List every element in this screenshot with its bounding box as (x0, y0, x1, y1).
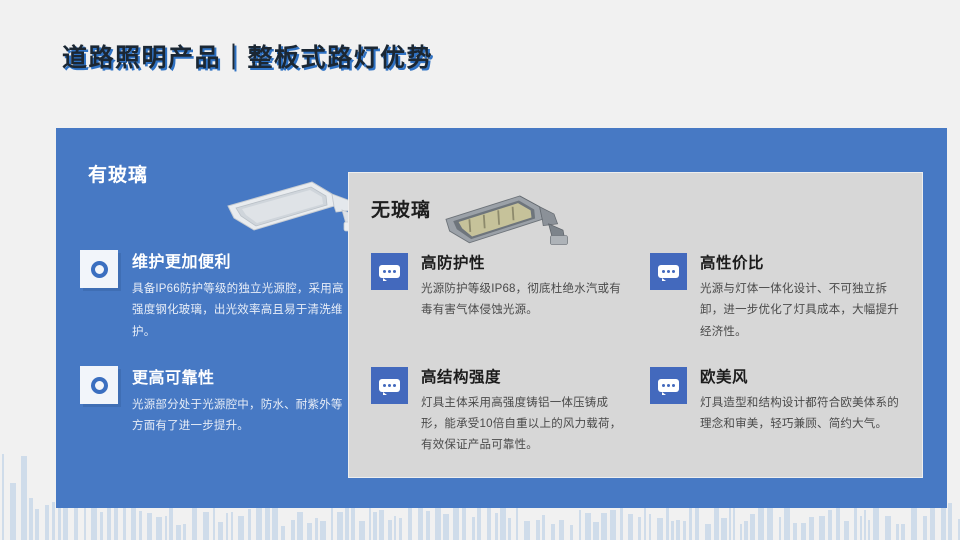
barcode-bar (585, 513, 591, 540)
barcode-bar (911, 505, 917, 540)
barcode-bar (524, 521, 530, 540)
barcode-bar (35, 509, 39, 540)
barcode-bar (542, 515, 545, 540)
barcode-bar (779, 517, 781, 540)
feature-title: 高防护性 (421, 251, 628, 273)
barcode-bar (238, 516, 244, 540)
barcode-bar (165, 516, 167, 540)
barcode-bar (408, 505, 412, 540)
barcode-bar (671, 521, 674, 540)
barcode-bar (291, 520, 295, 540)
barcode-bar (495, 513, 498, 540)
barcode-bar (345, 504, 349, 540)
barcode-bar (281, 526, 285, 540)
barcode-bar (868, 520, 870, 540)
barcode-bar (248, 509, 251, 540)
barcode-bar (29, 498, 33, 540)
barcode-bar (844, 521, 849, 540)
barcode-bar (443, 514, 449, 540)
barcode-bar (265, 506, 270, 540)
barcode-bar (231, 512, 233, 540)
barcode-bar (394, 516, 396, 540)
barcode-bar (676, 520, 680, 540)
barcode-bar (860, 516, 862, 540)
barcode-bar (331, 508, 333, 540)
barcode-bar (218, 522, 223, 540)
barcode-bar (418, 508, 423, 540)
barcode-bar (729, 505, 731, 540)
barcode-bar (147, 513, 152, 540)
feature-body: 光源部分处于光源腔中，防水、耐紫外等方面有了进一步提升。 (132, 395, 350, 438)
barcode-bar (373, 512, 377, 540)
barcode-bar (516, 504, 518, 540)
barcode-bar (337, 512, 343, 540)
barcode-bar (941, 504, 946, 540)
barcode-bar (683, 521, 686, 540)
barcode-bar (948, 503, 952, 540)
barcode-bar (226, 513, 228, 540)
barcode-bar (369, 508, 371, 540)
barcode-bar (139, 511, 142, 540)
feature-item-with-glass-0[interactable]: 维护更加便利 具备IP66防护等级的独立光源腔，采用高强度钢化玻璃，出光效率高且… (80, 248, 350, 343)
barcode-bar (793, 523, 797, 540)
barcode-bar (705, 524, 711, 540)
barcode-bar (610, 510, 616, 540)
barcode-bar (399, 518, 402, 540)
barcode-bar (183, 524, 186, 540)
feature-body: 光源与灯体一体化设计、不可独立拆卸，进一步优化了灯具成本，大幅提升经济性。 (700, 279, 907, 343)
barcode-bar (644, 507, 646, 540)
feature-title: 高性价比 (700, 251, 907, 273)
page-title: 道路照明产品｜整板式路灯优势 (62, 38, 433, 74)
barcode-bar (2, 454, 4, 540)
barcode-bar (453, 503, 459, 540)
barcode-bar (45, 505, 49, 540)
barcode-bar (10, 483, 16, 540)
barcode-bar (649, 514, 651, 540)
barcode-bar (638, 517, 641, 540)
barcode-bar (579, 510, 581, 540)
barcode-bar (307, 523, 312, 540)
barcode-bar (901, 524, 905, 540)
feature-item-no-glass-2[interactable]: 高结构强度 灯具主体采用高强度铸铝一体压铸成形，能承受10倍自重以上的风力载荷，… (371, 365, 628, 457)
feature-item-no-glass-0[interactable]: 高防护性 光源防护等级IP68，彻底杜绝水汽或有毒有害气体侵蚀光源。 (371, 251, 628, 343)
barcode-bar (508, 518, 511, 540)
barcode-bar (315, 518, 318, 540)
barcode-bar (351, 508, 355, 540)
barcode-bar (896, 524, 899, 540)
barcode-bar (930, 503, 935, 540)
barcode-bar (52, 502, 55, 540)
barcode-bar (192, 508, 197, 540)
barcode-bar (750, 514, 755, 540)
barcode-bar (472, 517, 475, 540)
barcode-bar (885, 516, 891, 540)
barcode-bar (819, 516, 825, 540)
barcode-bar (176, 525, 181, 540)
barcode-bar (551, 524, 555, 540)
barcode-bar (695, 505, 699, 540)
barcode-bar (359, 521, 365, 540)
no-glass-feature-grid: 高防护性 光源防护等级IP68，彻底杜绝水汽或有毒有害气体侵蚀光源。 高性价比 … (371, 251, 907, 457)
barcode-bar (601, 513, 607, 540)
ring-icon (80, 366, 118, 404)
barcode-bar (593, 522, 599, 540)
barcode-bar (426, 511, 430, 540)
message-bubble-icon (650, 253, 687, 290)
feature-item-no-glass-1[interactable]: 高性价比 光源与灯体一体化设计、不可独立拆卸，进一步优化了灯具成本，大幅提升经济… (650, 251, 907, 343)
feature-body: 光源防护等级IP68，彻底杜绝水汽或有毒有害气体侵蚀光源。 (421, 279, 628, 322)
feature-title: 维护更加便利 (132, 248, 350, 272)
barcode-bar (559, 520, 564, 540)
street-lamp-no-glass-icon (437, 179, 572, 257)
barcode-bar (740, 524, 742, 540)
barcode-bar (297, 512, 303, 540)
barcode-bar (100, 512, 103, 540)
no-glass-label: 无玻璃 (371, 195, 431, 222)
barcode-bar (721, 518, 727, 540)
street-lamp-with-glass-icon (216, 160, 366, 245)
barcode-bar (923, 516, 927, 540)
barcode-bar (657, 518, 663, 540)
barcode-bar (388, 520, 392, 540)
barcode-bar (435, 504, 441, 540)
feature-item-no-glass-3[interactable]: 欧美风 灯具造型和结构设计都符合欧美体系的理念和审美，轻巧兼顾、简约大气。 (650, 365, 907, 457)
feature-body: 灯具造型和结构设计都符合欧美体系的理念和审美，轻巧兼顾、简约大气。 (700, 393, 907, 436)
feature-body: 具备IP66防护等级的独立光源腔，采用高强度钢化玻璃，出光效率高且易于清洗维护。 (132, 279, 350, 343)
barcode-bar (801, 523, 806, 540)
message-bubble-icon (371, 367, 408, 404)
feature-title: 高结构强度 (421, 365, 628, 387)
barcode-bar (379, 510, 384, 540)
barcode-bar (733, 503, 735, 540)
barcode-bar (767, 506, 773, 540)
feature-title: 欧美风 (700, 365, 907, 387)
with-glass-label: 有玻璃 (88, 160, 148, 187)
barcode-bar (666, 505, 669, 540)
message-bubble-icon (650, 367, 687, 404)
message-bubble-icon (371, 253, 408, 290)
barcode-bar (536, 520, 540, 540)
barcode-bar (500, 508, 506, 540)
barcode-bar (256, 507, 262, 540)
barcode-bar (156, 517, 162, 540)
barcode-bar (477, 504, 481, 540)
barcode-bar (628, 514, 633, 540)
ring-icon (80, 250, 118, 288)
barcode-bar (828, 510, 832, 540)
feature-title: 更高可靠性 (132, 364, 350, 388)
barcode-bar (744, 521, 748, 540)
barcode-bar (809, 517, 814, 540)
feature-item-with-glass-1[interactable]: 更高可靠性 光源部分处于光源腔中，防水、耐紫外等方面有了进一步提升。 (80, 364, 350, 438)
barcode-bar (203, 512, 209, 540)
barcode-bar (864, 510, 866, 540)
barcode-bar (320, 521, 326, 540)
barcode-bar (21, 456, 27, 540)
barcode-bar (570, 525, 573, 540)
feature-body: 灯具主体采用高强度铸铝一体压铸成形，能承受10倍自重以上的风力载荷，有效保证产品… (421, 393, 628, 457)
no-glass-panel: 无玻璃 高防护性 光源防护等级IP68，彻底杜绝水汽或有毒有害气体侵蚀光源。 (348, 172, 923, 478)
